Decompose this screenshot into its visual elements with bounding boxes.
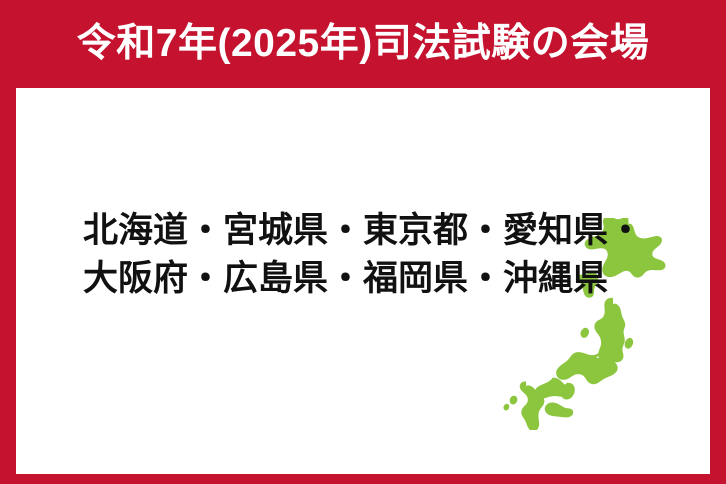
venue-line-2: 大阪府・広島県・福岡県・沖縄県 (83, 255, 643, 303)
content-panel: 北海道・宮城県・東京都・愛知県・ 大阪府・広島県・福岡県・沖縄県 (16, 88, 710, 474)
poster-root: 令和7年(2025年)司法試験の会場 (0, 0, 726, 484)
title-band: 令和7年(2025年)司法試験の会場 (0, 0, 726, 88)
venue-line-1: 北海道・宮城県・東京都・愛知県・ (83, 207, 643, 255)
page-title: 令和7年(2025年)司法試験の会場 (77, 24, 649, 63)
venue-list: 北海道・宮城県・東京都・愛知県・ 大阪府・広島県・福岡県・沖縄県 (83, 207, 643, 303)
